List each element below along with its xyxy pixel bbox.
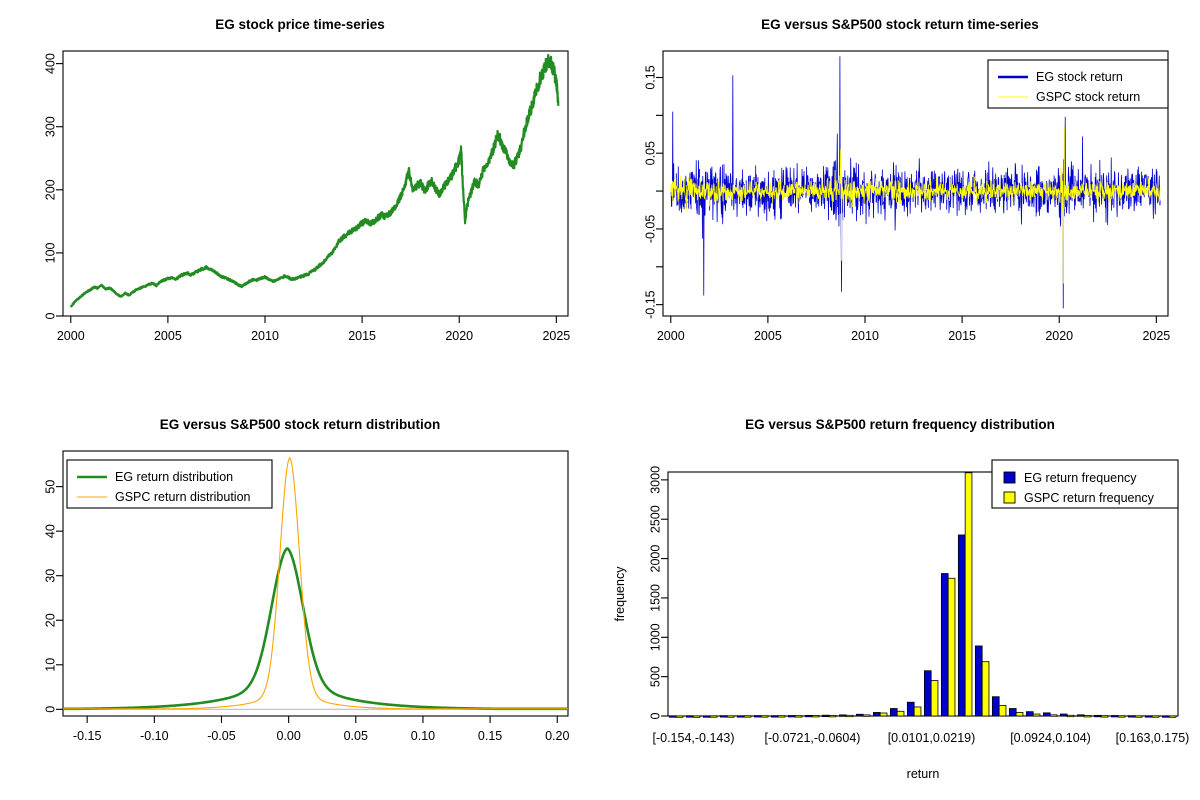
bar-eg [1094, 715, 1101, 716]
bar-eg [975, 646, 982, 716]
legend-swatch-0 [1004, 472, 1015, 483]
bar-eg [1009, 709, 1016, 716]
bar-gspc [897, 711, 904, 716]
price-line [71, 55, 559, 307]
y-tick-label: 0 [43, 312, 57, 319]
panel-price-series: EG stock price time-series 2000200520102… [0, 0, 600, 400]
y-tick-label: 30 [43, 569, 57, 583]
x-tick-label: 2010 [851, 329, 879, 343]
bar-gspc [1067, 715, 1074, 716]
bar-gspc [1101, 716, 1108, 717]
x-tick-label: [-0.0721,-0.0604) [765, 731, 861, 745]
bar-eg [941, 574, 948, 716]
y-tick-label: 0 [43, 706, 57, 713]
bar-eg [873, 712, 880, 716]
y-tick-label: 1500 [648, 584, 662, 612]
bar-gspc [829, 715, 836, 716]
panel-return-frequency: EG versus S&P500 return frequency distri… [600, 400, 1200, 800]
plot-box [63, 51, 568, 316]
y-tick-label: 10 [43, 658, 57, 672]
bar-gspc [846, 715, 853, 716]
bar-eg [958, 535, 965, 716]
legend-swatch-1 [1004, 492, 1015, 503]
chart-price-series: 2000200520102015202020250100200300400 [0, 0, 600, 400]
bar-gspc [1152, 716, 1159, 717]
bar-gspc [727, 716, 734, 717]
bar-eg [1145, 716, 1152, 717]
panel-return-density: EG versus S&P500 stock return distributi… [0, 400, 600, 800]
bar-gspc [880, 713, 887, 716]
bar-gspc [761, 716, 768, 717]
bar-eg [1026, 712, 1033, 716]
bar-gspc [1118, 716, 1125, 717]
x-tick-label: [0.163,0.175) [1116, 731, 1190, 745]
y-tick-label: 1000 [648, 623, 662, 651]
x-tick-label: 0.15 [478, 729, 502, 743]
x-tick-label: [0.0101,0.0219) [888, 731, 976, 745]
x-tick-label: 2000 [657, 329, 685, 343]
y-tick-label: 20 [43, 613, 57, 627]
bar-eg [1128, 716, 1135, 717]
bar-gspc [676, 716, 683, 717]
x-tick-label: 2025 [542, 329, 570, 343]
y-tick-label: 500 [648, 666, 662, 687]
bar-gspc [1033, 714, 1040, 716]
panel-title-return-density: EG versus S&P500 stock return distributi… [0, 418, 600, 432]
x-tick-label: 0.00 [276, 729, 300, 743]
legend-label: GSPC return distribution [115, 490, 251, 504]
panel-title-return-frequency: EG versus S&P500 return frequency distri… [600, 418, 1200, 432]
bar-gspc [744, 716, 751, 717]
bar-gspc [1135, 716, 1142, 717]
chart-return-series: 200020052010201520202025-0.15-0.050.050.… [600, 0, 1200, 400]
legend: EG return frequencyGSPC return frequency [992, 460, 1178, 508]
y-tick-label: -0.05 [643, 215, 657, 244]
bar-eg [907, 702, 914, 716]
bar-eg [839, 715, 846, 716]
bar-eg [720, 716, 727, 717]
panel-return-series: EG versus S&P500 stock return time-serie… [600, 0, 1200, 400]
x-tick-label: 2025 [1142, 329, 1170, 343]
panel-title-return-series: EG versus S&P500 stock return time-serie… [600, 18, 1200, 32]
bar-eg [703, 716, 710, 717]
figure-grid: EG stock price time-series 2000200520102… [0, 0, 1200, 800]
axis-ticks: -0.15-0.10-0.050.000.050.100.150.2001020… [43, 480, 569, 743]
bar-eg [788, 716, 795, 717]
x-tick-label: 0.20 [545, 729, 569, 743]
x-tick-label: 0.10 [411, 729, 435, 743]
bar-gspc [999, 705, 1006, 716]
bar-eg [822, 715, 829, 716]
y-tick-label: 40 [43, 524, 57, 538]
bar-eg [890, 709, 897, 716]
legend-label: GSPC return frequency [1024, 491, 1155, 505]
bar-gspc [710, 716, 717, 717]
bar-gspc [1169, 716, 1176, 717]
y-tick-label: 100 [43, 242, 57, 263]
x-tick-label: [0.0924,0.104) [1010, 731, 1091, 745]
y-axis-title: frequency [613, 566, 627, 622]
x-tick-label: 2005 [154, 329, 182, 343]
bar-gspc [812, 716, 819, 717]
x-tick-label: -0.10 [140, 729, 169, 743]
bar-eg [1043, 713, 1050, 716]
x-tick-label: -0.15 [73, 729, 102, 743]
bar-eg [771, 716, 778, 717]
bar-eg [1060, 714, 1067, 716]
plot-box [668, 472, 1178, 716]
chart-return-density: -0.15-0.10-0.050.000.050.100.150.2001020… [0, 400, 600, 800]
bar-eg [754, 716, 761, 717]
x-tick-label: -0.05 [207, 729, 236, 743]
bar-eg [992, 697, 999, 716]
eg-density-curve [63, 549, 568, 709]
legend-label: EG return frequency [1024, 471, 1137, 485]
y-tick-label: 2000 [648, 545, 662, 573]
bar-eg [1077, 715, 1084, 716]
bar-gspc [1016, 712, 1023, 716]
y-tick-label: 200 [43, 179, 57, 200]
bar-gspc [982, 662, 989, 716]
bar-gspc [965, 473, 972, 716]
x-axis-title: return [907, 767, 940, 781]
bar-gspc [778, 716, 785, 717]
y-tick-label: -0.15 [643, 290, 657, 319]
y-tick-label: 2500 [648, 505, 662, 533]
x-tick-label: 2020 [445, 329, 473, 343]
legend-label: GSPC stock return [1036, 90, 1140, 104]
x-tick-label: 2015 [348, 329, 376, 343]
legend-label: EG stock return [1036, 70, 1123, 84]
bar-eg [1162, 716, 1169, 717]
x-tick-label: 0.05 [344, 729, 368, 743]
bar-gspc [863, 715, 870, 716]
bar-gspc [914, 707, 921, 716]
y-tick-label: 0.15 [643, 65, 657, 89]
x-tick-label: 2000 [57, 329, 85, 343]
bar-eg [924, 671, 931, 716]
bar-gspc [931, 681, 938, 716]
y-tick-label: 0 [648, 712, 662, 719]
bar-gspc [795, 716, 802, 717]
x-tick-label: [-0.154,-0.143) [653, 731, 735, 745]
bar-eg [686, 716, 693, 717]
bar-eg [805, 715, 812, 716]
bars [669, 473, 1176, 718]
bar-eg [1111, 716, 1118, 717]
bar-eg [737, 716, 744, 717]
legend: EG return distributionGSPC return distri… [67, 460, 272, 508]
chart-return-frequency: 050010001500200025003000[-0.154,-0.143)[… [600, 400, 1200, 800]
legend-label: EG return distribution [115, 470, 233, 484]
bar-gspc [693, 716, 700, 717]
y-tick-label: 0.05 [643, 141, 657, 165]
y-tick-label: 3000 [648, 466, 662, 494]
y-tick-label: 300 [43, 116, 57, 137]
panel-title-price-series: EG stock price time-series [0, 18, 600, 32]
x-tick-label: 2005 [754, 329, 782, 343]
bar-gspc [948, 578, 955, 716]
axis-ticks: 2000200520102015202020250100200300400 [43, 53, 570, 343]
x-tick-label: 2010 [251, 329, 279, 343]
bar-gspc [1084, 716, 1091, 717]
bar-eg [856, 714, 863, 716]
y-tick-label: 50 [43, 480, 57, 494]
x-tick-label: 2015 [948, 329, 976, 343]
bar-gspc [1050, 715, 1057, 716]
legend: EG stock returnGSPC stock return [988, 60, 1168, 108]
y-tick-label: 400 [43, 53, 57, 74]
bar-eg [669, 716, 676, 717]
x-tick-label: 2020 [1045, 329, 1073, 343]
